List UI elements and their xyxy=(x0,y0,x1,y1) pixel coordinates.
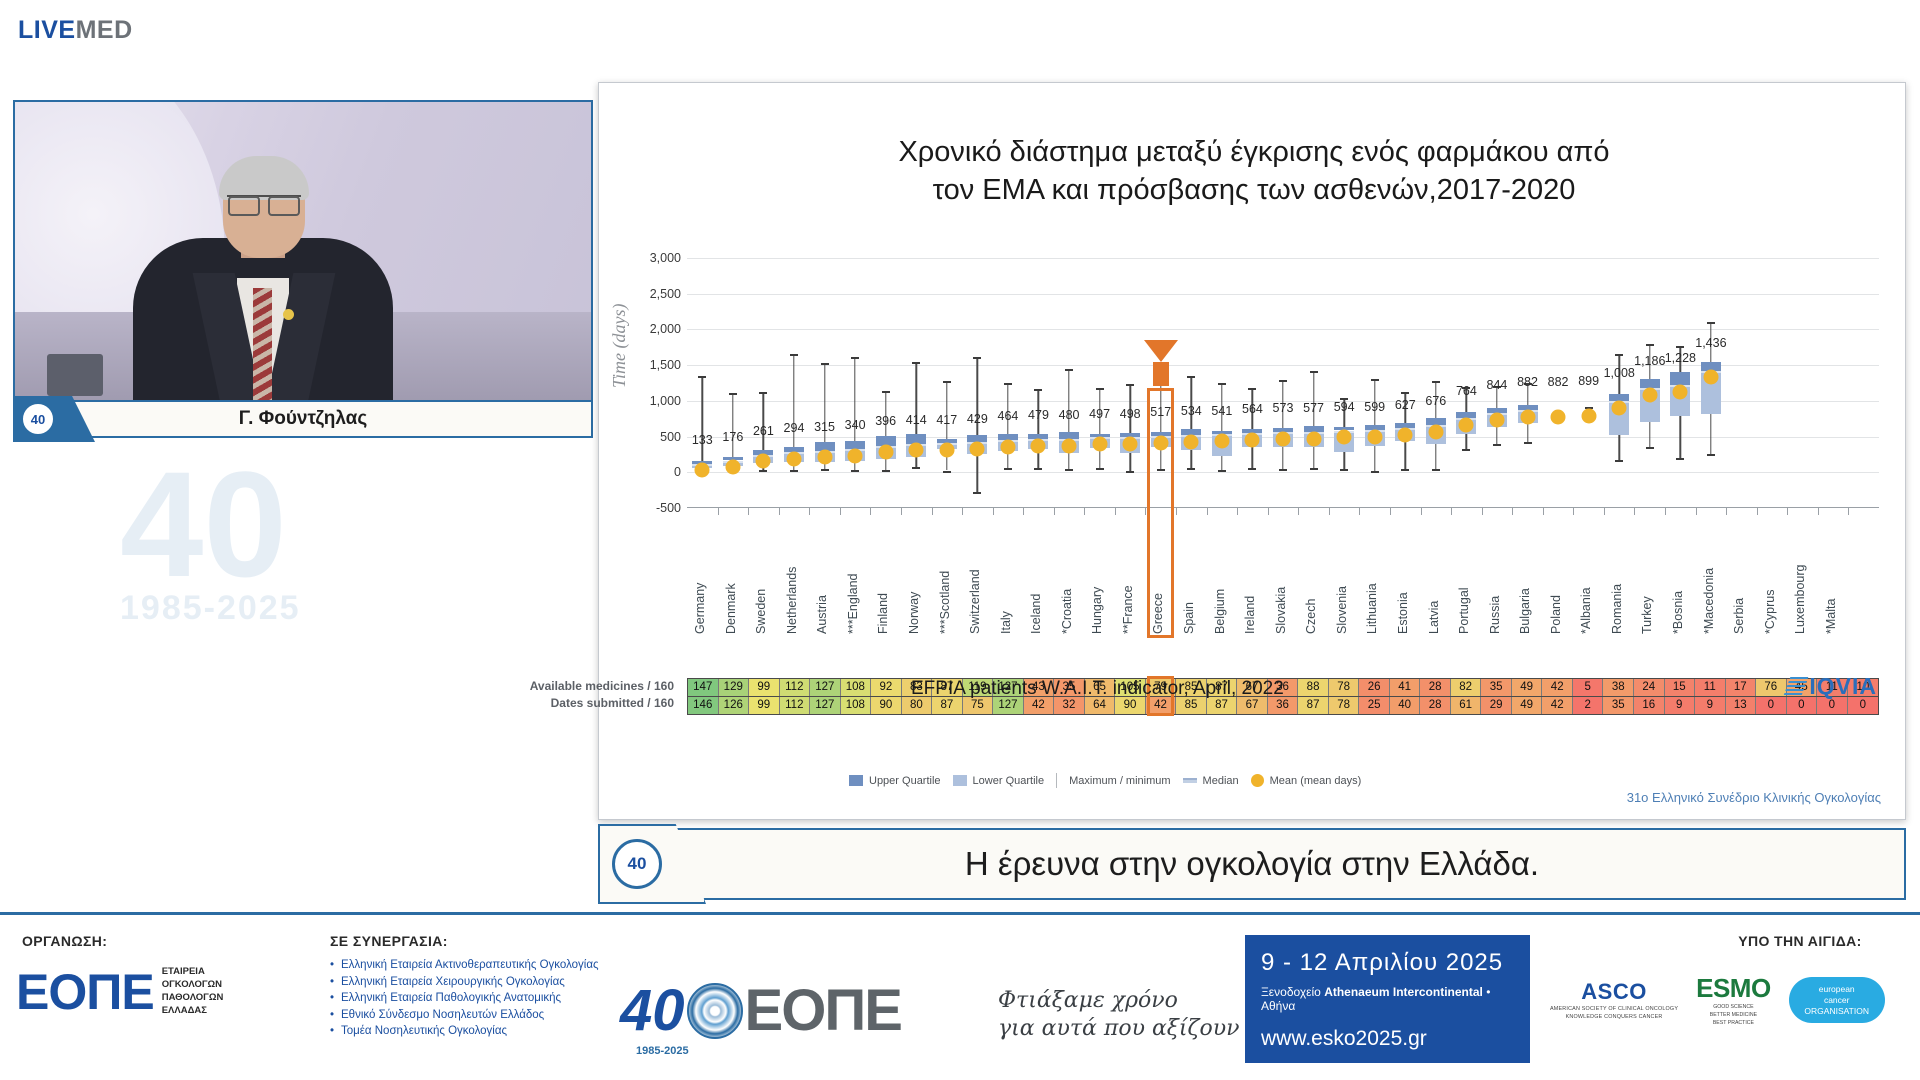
chart-mean-marker xyxy=(1306,431,1321,446)
chart-whisker xyxy=(1282,380,1283,469)
footer-sponsor-logos: ASCO AMERICAN SOCIETY OF CLINICAL ONCOLO… xyxy=(1550,973,1885,1027)
heat-table-cell: 16 xyxy=(1634,697,1665,714)
chart-mean-marker xyxy=(817,450,832,465)
chart-country-label: Belgium xyxy=(1213,516,1229,634)
chart-upper-quartile-box xyxy=(1670,372,1690,386)
heat-table-cell: 127 xyxy=(810,697,841,714)
legend-item-median: Median xyxy=(1183,775,1239,787)
heat-table-cell: 42 xyxy=(1542,679,1573,696)
chart-country-label: Poland xyxy=(1549,516,1565,634)
heat-table-cell: 0 xyxy=(1756,697,1787,714)
chart-country-label: Ireland xyxy=(1243,516,1259,634)
heat-table-cell: 90 xyxy=(871,697,902,714)
chart-country-label: Switzerland xyxy=(968,516,984,634)
chart-value-label: 133 xyxy=(692,433,713,447)
footer-aegis-title: ΥΠΟ ΤΗΝ ΑΙΓΙΔΑ: xyxy=(1700,933,1900,949)
ecco-line2: cancer xyxy=(1824,995,1850,1006)
presentation-slide[interactable]: Χρονικό διάστημα μεταξύ έγκρισης ενός φα… xyxy=(598,82,1906,820)
chart-whisker-cap xyxy=(1524,442,1532,444)
chart-country-labels: GermanyDenmarkSwedenNetherlandsAustria**… xyxy=(687,516,1879,634)
heat-table-cell: 129 xyxy=(719,679,750,696)
chart-value-label: 573 xyxy=(1273,401,1294,415)
european-cancer-organisation-logo: european cancer ORGANISATION xyxy=(1789,977,1885,1023)
speaker-glasses xyxy=(227,195,301,212)
chart-value-label: 594 xyxy=(1334,400,1355,414)
slide-title: Χρονικό διάστημα μεταξύ έγκρισης ενός φα… xyxy=(659,133,1849,210)
slide-title-line1: Χρονικό διάστημα μεταξύ έγκρισης ενός φα… xyxy=(659,133,1849,171)
chart-whisker-cap xyxy=(943,381,951,383)
chart-whisker-cap xyxy=(1646,447,1654,449)
chart-box-column: 627 xyxy=(1390,258,1421,508)
chart-box-column: 294 xyxy=(779,258,810,508)
chart-whisker-cap xyxy=(1187,376,1195,378)
chart-value-label: 764 xyxy=(1456,384,1477,398)
heat-table-cell: 99 xyxy=(749,697,780,714)
chart-country-label: Lithuania xyxy=(1365,516,1381,634)
chart-value-label: 480 xyxy=(1059,408,1080,422)
chart-whisker xyxy=(1191,376,1192,469)
chart-box-column xyxy=(1726,258,1757,508)
footer-cooperation-item: Εθνικό Σύνδεσμο Νοσηλευτών Ελλάδος xyxy=(330,1009,599,1021)
chart-whisker-cap xyxy=(1218,383,1226,385)
chart-value-label: 261 xyxy=(753,424,774,438)
slide-footer-text: 31ο Ελληνικό Συνέδριο Κλινικής Ογκολογία… xyxy=(1627,790,1881,805)
heat-table-cell: 82 xyxy=(1451,679,1482,696)
chart-whisker-cap xyxy=(1034,389,1042,391)
chart-whisker-cap xyxy=(729,393,737,395)
legend-label: Lower Quartile xyxy=(973,775,1045,787)
chart-whisker xyxy=(1129,384,1130,471)
footer-organizer-title: ΟΡΓΑΝΩΣΗ: xyxy=(22,933,107,949)
legend-swatch-mean xyxy=(1251,774,1264,787)
chart-mean-marker xyxy=(1428,424,1443,439)
chart-value-label: 294 xyxy=(784,421,805,435)
chart-y-tick-label: 500 xyxy=(660,430,681,444)
chart-value-label: 498 xyxy=(1120,407,1141,421)
chart-y-tick-label: 1,500 xyxy=(650,358,681,372)
chart-whisker-cap xyxy=(1279,380,1287,382)
eope-wordmark: ΕΟΠΕ xyxy=(16,963,154,1021)
heat-table-cell: 28 xyxy=(1420,697,1451,714)
asco-wordmark: ASCO xyxy=(1550,979,1678,1005)
chart-box-column: 1,008 xyxy=(1604,258,1635,508)
heat-table-row-label: Available medicines / 160 xyxy=(477,678,682,695)
legend-label: Median xyxy=(1203,775,1239,787)
chart-mean-marker xyxy=(1245,432,1260,447)
chart-box-column: 899 xyxy=(1573,258,1604,508)
chart-mean-marker xyxy=(939,443,954,458)
chart-mean-marker xyxy=(1367,430,1382,445)
chart-mean-marker xyxy=(1703,370,1718,385)
heat-table-cell: 108 xyxy=(841,679,872,696)
legend-label: Mean (mean days) xyxy=(1270,775,1362,787)
chart-country-label: Italy xyxy=(999,516,1015,634)
chart-mean-marker xyxy=(1184,434,1199,449)
chart-box-column: 315 xyxy=(809,258,840,508)
chart-y-tick-label: 0 xyxy=(674,465,681,479)
chart-whisker xyxy=(1038,389,1039,468)
speaker-nameplate: Γ. Φούντζηλας xyxy=(13,400,593,438)
speaker-tie xyxy=(253,288,272,408)
heat-table-cell: 49 xyxy=(1512,697,1543,714)
esmo-logo: ESMO GOOD SCIENCE BETTER MEDICINE BEST P… xyxy=(1696,973,1771,1027)
footer-cooperation-item: Ελληνική Εταιρεία Χειρουργικής Ογκολογία… xyxy=(330,976,599,988)
page-footer: ΟΡΓΑΝΩΣΗ: ΕΟΠΕ ΕΤΑΙΡΕΙΑ ΟΓΚΟΛΟΓΩΝ ΠΑΘΟΛΟ… xyxy=(0,912,1920,1080)
legend-swatch-upper-quartile xyxy=(849,775,863,786)
chart-whisker-cap xyxy=(973,357,981,359)
chart-value-label: 497 xyxy=(1089,407,1110,421)
anniversary-eope-wordmark: ΕΟΠΕ xyxy=(745,977,901,1044)
chart-country-label: Romania xyxy=(1610,516,1626,634)
chart-country-label: **France xyxy=(1121,516,1137,634)
chart-mean-marker xyxy=(1489,412,1504,427)
chart-series-columns: 1331762612943153403964144174294644794804… xyxy=(687,258,1879,508)
chart-mean-marker xyxy=(1520,409,1535,424)
chart-country-label: *Macedonia xyxy=(1702,516,1718,634)
chart-country-label: Denmark xyxy=(724,516,740,634)
heat-table-cell: 87 xyxy=(1298,697,1329,714)
chart-country-label: Turkey xyxy=(1640,516,1656,634)
chart-value-label: 564 xyxy=(1242,402,1263,416)
event-date-box[interactable]: 9 - 12 Απριλίου 2025 Ξενοδοχείο Athenaeu… xyxy=(1245,935,1530,1063)
chart-whisker-cap xyxy=(698,376,706,378)
chart-value-label: 396 xyxy=(875,414,896,428)
chart-mean-marker xyxy=(695,463,710,478)
chart-whisker-cap xyxy=(1126,384,1134,386)
chart-whisker-cap xyxy=(912,467,920,469)
footer-cooperation-item: Ελληνική Εταιρεία Παθολογικής Ανατομικής xyxy=(330,992,599,1004)
heat-table-cell: 112 xyxy=(780,679,811,696)
chart-value-label: 844 xyxy=(1487,378,1508,392)
slide-title-line2: τον ΕΜΑ και πρόσβασης των ασθενών,2017-2… xyxy=(659,171,1849,209)
video-laptop xyxy=(47,354,103,396)
chart-country-label: Slovakia xyxy=(1274,516,1290,634)
chart-mean-marker xyxy=(848,448,863,463)
eope-subtitle-line3: ΠΑΘΟΛΟΓΩΝ xyxy=(162,992,224,1005)
heat-table-cell: 9 xyxy=(1695,697,1726,714)
heat-table-cell: 42 xyxy=(1542,697,1573,714)
chart-box-column: 564 xyxy=(1237,258,1268,508)
chart-whisker-cap xyxy=(1279,469,1287,471)
chart-box-column: 479 xyxy=(1023,258,1054,508)
heat-table-cell: 108 xyxy=(841,697,872,714)
chart-whisker xyxy=(1221,383,1222,471)
chart-box-column xyxy=(1787,258,1818,508)
chart-mean-marker xyxy=(1612,400,1627,415)
chart-whisker-cap xyxy=(759,470,767,472)
heat-table-cell: 112 xyxy=(780,697,811,714)
heat-table-cell: 24 xyxy=(1634,679,1665,696)
chart-country-label: ***Scotland xyxy=(938,516,954,634)
chart-whisker-cap xyxy=(821,469,829,471)
chart-box-column: 764 xyxy=(1451,258,1482,508)
asco-subtitle-1: AMERICAN SOCIETY OF CLINICAL ONCOLOGY xyxy=(1550,1005,1678,1013)
speaker-name: Γ. Φούντζηλας xyxy=(239,408,367,430)
heat-table-cell: 35 xyxy=(1481,679,1512,696)
chart-box-column: 340 xyxy=(840,258,871,508)
eope-subtitle: ΕΤΑΙΡΕΙΑ ΟΓΚΟΛΟΓΩΝ ΠΑΘΟΛΟΓΩΝ ΕΛΛΑΔΑΣ xyxy=(162,966,224,1017)
footer-slogan: Φτιάξαμε χρόνο για αυτά που αξίζουν xyxy=(998,987,1239,1042)
chart-mean-marker xyxy=(1153,435,1168,450)
chart-whisker-cap xyxy=(759,392,767,394)
chart-whisker xyxy=(1099,388,1100,468)
chart-box-column: 497 xyxy=(1084,258,1115,508)
chart-value-label: 627 xyxy=(1395,398,1416,412)
chart-country-label: Norway xyxy=(907,516,923,634)
chart-value-label: 429 xyxy=(967,412,988,426)
chart-value-label: 599 xyxy=(1364,400,1385,414)
chart-whisker-cap xyxy=(882,470,890,472)
background-watermark: 40 1985-2025 xyxy=(120,455,540,685)
chart-y-axis-label: Time (days) xyxy=(609,304,630,389)
chart-whisker-cap xyxy=(973,492,981,494)
chart-value-label: 417 xyxy=(936,413,957,427)
chart-country-label: *Croatia xyxy=(1060,516,1076,634)
chart-value-label: 1,008 xyxy=(1604,366,1635,380)
legend-swatch-lower-quartile xyxy=(953,775,967,786)
footer-slogan-line2: για αυτά που αξίζουν xyxy=(998,1015,1239,1043)
chart-whisker-cap xyxy=(1432,381,1440,383)
chart-mean-marker xyxy=(1673,385,1688,400)
chart-box-column xyxy=(1818,258,1849,508)
ecco-line3: ORGANISATION xyxy=(1804,1006,1869,1017)
heat-table-cell: 61 xyxy=(1451,697,1482,714)
chart-mean-marker xyxy=(1275,431,1290,446)
chart-value-label: 541 xyxy=(1211,404,1232,418)
anniversary-years: 1985-2025 xyxy=(636,1045,689,1057)
chart-whisker xyxy=(1160,377,1161,469)
chart-country-label: Greece xyxy=(1151,516,1167,634)
chart-mean-marker xyxy=(1551,409,1566,424)
footer-slogan-line1: Φτιάξαμε χρόνο xyxy=(998,987,1239,1015)
heat-table-cell: 25 xyxy=(1359,697,1390,714)
chart-value-label: 176 xyxy=(722,430,743,444)
event-venue: Ξενοδοχείο Athenaeum Intercontinental • … xyxy=(1261,985,1514,1013)
chart-value-label: 340 xyxy=(845,418,866,432)
chart-box-column: 133 xyxy=(687,258,718,508)
chart-country-label: *Bosnia xyxy=(1671,516,1687,634)
legend-item-upper-quartile: Upper Quartile xyxy=(849,775,941,787)
chart-box-column: 176 xyxy=(718,258,749,508)
livemed-logo-part2: MED xyxy=(76,16,133,44)
chart-box-column: 577 xyxy=(1298,258,1329,508)
chart-y-tick-label: 3,000 xyxy=(650,251,681,265)
speaker-video-panel[interactable] xyxy=(13,100,593,410)
footer-cooperation-item: Τομέα Νοσηλευτικής Ογκολογίας xyxy=(330,1025,599,1037)
heat-table-cell: 78 xyxy=(1329,679,1360,696)
heat-table-cell: 29 xyxy=(1481,697,1512,714)
heat-table-cell: 146 xyxy=(688,697,719,714)
chart-value-label: 882 xyxy=(1548,375,1569,389)
heat-table-cell: 5 xyxy=(1573,679,1604,696)
livemed-logo-part1: LIVE xyxy=(18,16,76,44)
chart-box-column: 541 xyxy=(1207,258,1238,508)
chart-whisker-cap xyxy=(1065,369,1073,371)
heat-table-cell: 147 xyxy=(688,679,719,696)
chart-source: EFPIA patients W.A.I.T. indicator, April… xyxy=(911,678,1284,700)
chart-mean-marker xyxy=(725,460,740,475)
heat-table-cell: 15 xyxy=(1665,679,1696,696)
chart-whisker-cap xyxy=(1676,346,1684,348)
chart-mean-marker xyxy=(970,442,985,457)
chart-whisker-cap xyxy=(1004,468,1012,470)
chart-mean-marker xyxy=(1062,438,1077,453)
anniversary-number: 40 xyxy=(620,977,685,1044)
chart-box-column: 417 xyxy=(932,258,963,508)
heat-table-cell: 127 xyxy=(810,679,841,696)
chart-x-axis-ticks xyxy=(687,508,1879,515)
chart-value-label: 577 xyxy=(1303,401,1324,415)
chart-y-tick-label: -500 xyxy=(656,501,681,515)
legend-item-max-min: Maximum / minimum xyxy=(1069,775,1170,787)
heat-table-cell: 17 xyxy=(1726,679,1757,696)
heat-table-row-labels: Available medicines / 160Dates submitted… xyxy=(477,678,682,712)
chart-country-label: Latvia xyxy=(1427,516,1443,634)
chart-mean-marker xyxy=(1031,438,1046,453)
asco-logo: ASCO AMERICAN SOCIETY OF CLINICAL ONCOLO… xyxy=(1550,979,1678,1021)
chart-whisker-cap xyxy=(1340,469,1348,471)
chart-whisker-cap xyxy=(1615,460,1623,462)
chart-country-label: Germany xyxy=(693,516,709,634)
anniversary-spiral-icon xyxy=(687,983,743,1039)
eope-subtitle-line1: ΕΤΑΙΡΕΙΑ xyxy=(162,966,224,979)
heat-table-cell: 92 xyxy=(871,679,902,696)
banner-badge-label: 40 xyxy=(612,839,662,889)
heat-table-cell: 26 xyxy=(1359,679,1390,696)
chart-whisker-cap xyxy=(1401,469,1409,471)
wait-indicator-chart: Time (days) 3,0002,5002,0001,5001,000500… xyxy=(621,258,1887,678)
chart-whisker-cap xyxy=(1248,388,1256,390)
chart-mean-marker xyxy=(1398,428,1413,443)
chart-whisker-cap xyxy=(1187,468,1195,470)
watermark-number: 40 xyxy=(120,455,540,593)
esmo-subtitle-1: GOOD SCIENCE xyxy=(1696,1004,1771,1012)
chart-value-label: 464 xyxy=(997,409,1018,423)
chart-whisker-cap xyxy=(1371,379,1379,381)
chart-box-column: 599 xyxy=(1359,258,1390,508)
chart-box-column: 882 xyxy=(1512,258,1543,508)
footer-aegis-block: ΥΠΟ ΤΗΝ ΑΙΓΙΔΑ: xyxy=(1700,933,1900,949)
heat-table-cell: 38 xyxy=(1603,679,1634,696)
chart-whisker-cap xyxy=(851,357,859,359)
heat-table-cell: 41 xyxy=(1390,679,1421,696)
iqvia-bars-icon xyxy=(1784,677,1809,695)
chart-mean-marker xyxy=(1000,439,1015,454)
chart-legend: Upper QuartileLower QuartileMaximum / mi… xyxy=(849,773,1361,788)
legend-divider xyxy=(1056,773,1057,788)
footer-cooperation-block: ΣΕ ΣΥΝΕΡΓΑΣΙΑ: Ελληνική Εταιρεία Ακτινοθ… xyxy=(330,933,599,1042)
heat-table-cell: 9 xyxy=(1665,697,1696,714)
heat-table-cell: 11 xyxy=(1695,679,1726,696)
chart-box-column: 573 xyxy=(1268,258,1299,508)
chart-whisker-cap xyxy=(1096,388,1104,390)
chart-whisker-cap xyxy=(821,363,829,365)
chart-whisker-cap xyxy=(1004,383,1012,385)
chart-country-label: Russia xyxy=(1488,516,1504,634)
chart-box-column: 1,228 xyxy=(1665,258,1696,508)
chart-country-label: Austria xyxy=(815,516,831,634)
watermark-years: 1985-2025 xyxy=(120,593,540,624)
chart-mean-marker xyxy=(1214,434,1229,449)
chart-box-column xyxy=(1757,258,1788,508)
chart-country-label: Finland xyxy=(876,516,892,634)
footer-organizer-block: ΟΡΓΑΝΩΣΗ: xyxy=(22,933,107,949)
chart-whisker-cap xyxy=(1371,471,1379,473)
chart-whisker xyxy=(702,376,703,471)
chart-whisker-cap xyxy=(1096,468,1104,470)
chart-country-label: *Cyprus xyxy=(1763,516,1779,634)
eope-subtitle-line2: ΟΓΚΟΛΟΓΩΝ xyxy=(162,979,224,992)
chart-whisker-cap xyxy=(1676,458,1684,460)
legend-label: Upper Quartile xyxy=(869,775,941,787)
chart-mean-marker xyxy=(909,443,924,458)
chart-whisker-cap xyxy=(1157,469,1165,471)
chart-whisker-cap xyxy=(1310,371,1318,373)
chart-whisker-cap xyxy=(1493,444,1501,446)
chart-box-column: 498 xyxy=(1115,258,1146,508)
chart-box-column: 414 xyxy=(901,258,932,508)
legend-item-mean: Mean (mean days) xyxy=(1251,774,1362,787)
footer-cooperation-item: Ελληνική Εταιρεία Ακτινοθεραπευτικής Ογκ… xyxy=(330,959,599,971)
chart-value-label: 479 xyxy=(1028,408,1049,422)
chart-value-label: 1,228 xyxy=(1665,351,1696,365)
chart-box-column: 844 xyxy=(1482,258,1513,508)
chart-value-label: 676 xyxy=(1425,394,1446,408)
chart-whisker-cap xyxy=(1218,470,1226,472)
chart-box-column: 480 xyxy=(1054,258,1085,508)
heat-table-cell: 49 xyxy=(1512,679,1543,696)
anniversary-logo: 40 ΕΟΠΕ xyxy=(620,977,901,1044)
chart-value-label: 1,186 xyxy=(1634,354,1665,368)
event-website-link[interactable]: www.esko2025.gr xyxy=(1261,1027,1514,1051)
footer-cooperation-list: Ελληνική Εταιρεία Ακτινοθεραπευτικής Ογκ… xyxy=(330,959,599,1037)
heat-table-cell: 88 xyxy=(1298,679,1329,696)
heat-table-cell: 40 xyxy=(1390,697,1421,714)
heat-table-cell: 35 xyxy=(1603,697,1634,714)
chart-value-label: 882 xyxy=(1517,375,1538,389)
chart-mean-marker xyxy=(1581,408,1596,423)
chart-whisker-cap xyxy=(1401,392,1409,394)
speaker-hair xyxy=(219,156,309,200)
asco-subtitle-2: KNOWLEDGE CONQUERS CANCER xyxy=(1550,1013,1678,1021)
chart-whisker-cap xyxy=(912,362,920,364)
chart-whisker xyxy=(1313,371,1314,468)
chart-country-label: Luxembourg xyxy=(1793,516,1809,634)
iqvia-wordmark: IQVIA xyxy=(1809,673,1877,700)
chart-mean-marker xyxy=(878,444,893,459)
chart-whisker-cap xyxy=(1248,468,1256,470)
chart-mean-marker xyxy=(1092,437,1107,452)
chart-whisker-cap xyxy=(1707,454,1715,456)
chart-mean-marker xyxy=(1459,418,1474,433)
legend-swatch-median xyxy=(1183,778,1197,783)
legend-label: Maximum / minimum xyxy=(1069,775,1170,787)
heat-table-cell: 28 xyxy=(1420,679,1451,696)
chart-box-column: 429 xyxy=(962,258,993,508)
heat-table-cell: 126 xyxy=(719,697,750,714)
chart-country-label: Spain xyxy=(1182,516,1198,634)
eope-subtitle-line4: ΕΛΛΑΔΑΣ xyxy=(162,1005,224,1018)
chart-mean-marker xyxy=(786,451,801,466)
chart-y-tick-label: 2,500 xyxy=(650,287,681,301)
chart-country-label: *Albania xyxy=(1579,516,1595,634)
esmo-wordmark: ESMO xyxy=(1696,973,1771,1004)
chart-country-label: *Malta xyxy=(1824,516,1840,634)
chart-whisker-cap xyxy=(1432,469,1440,471)
chart-whisker-cap xyxy=(1126,471,1134,473)
heat-table-row-label: Dates submitted / 160 xyxy=(477,695,682,712)
chart-whisker-cap xyxy=(1034,468,1042,470)
